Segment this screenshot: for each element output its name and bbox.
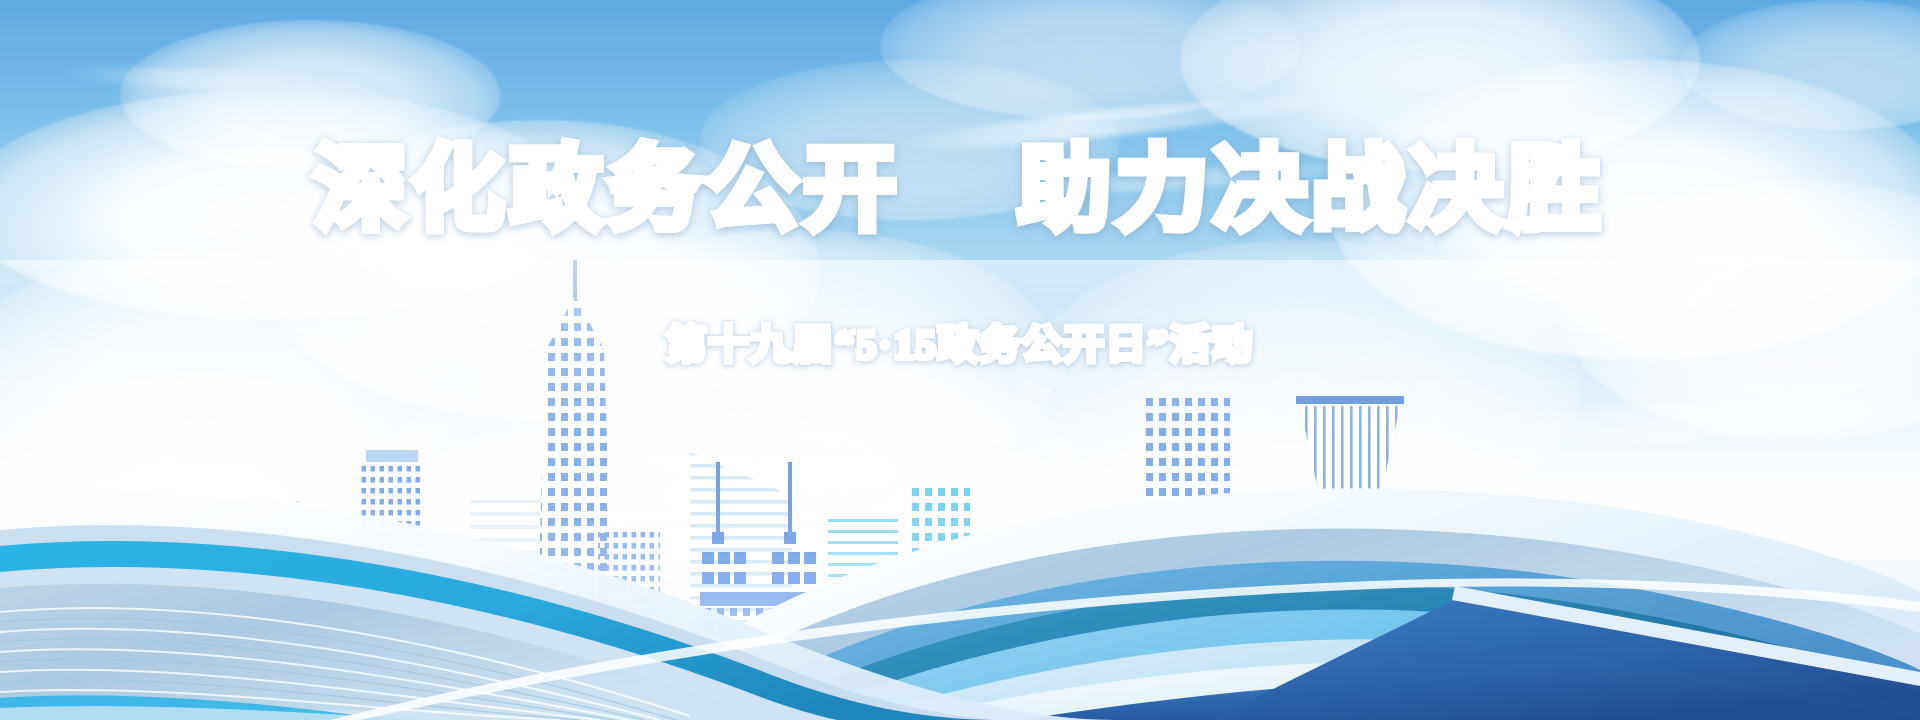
cloud-wisp [60, 62, 361, 98]
wave-graphic [0, 380, 1920, 720]
main-title: 深化政务公开 助力决战决胜 [314, 142, 1606, 239]
subtitle: 第十九届“5·15政务公开日”活动 [666, 312, 1253, 370]
subtitle-block: 第十九届“5·15政务公开日”活动 [0, 312, 1920, 370]
cloud-shape [1680, 0, 1920, 130]
title-block: 深化政务公开 助力决战决胜 [0, 142, 1920, 239]
cloud-shape [880, 0, 1300, 120]
banner-root: 深化政务公开 助力决战决胜 第十九届“5·15政务公开日”活动 [0, 0, 1920, 720]
